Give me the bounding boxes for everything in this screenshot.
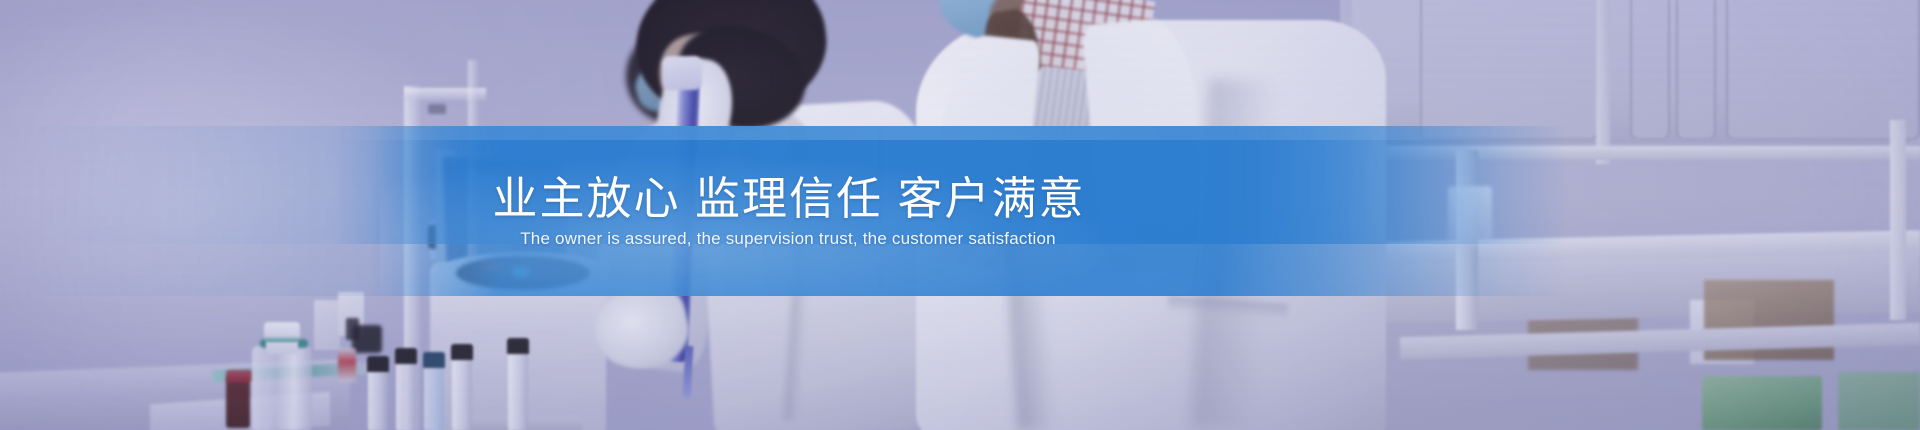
banner-headline: 业主放心 监理信任 客户满意 <box>484 173 1085 225</box>
banner-subheadline: The owner is assured, the supervision tr… <box>514 229 1056 249</box>
banner-text-block: 业主放心 监理信任 客户满意 The owner is assured, the… <box>0 126 1570 296</box>
hero-banner: 业主放心 监理信任 客户满意 The owner is assured, the… <box>0 0 1920 430</box>
